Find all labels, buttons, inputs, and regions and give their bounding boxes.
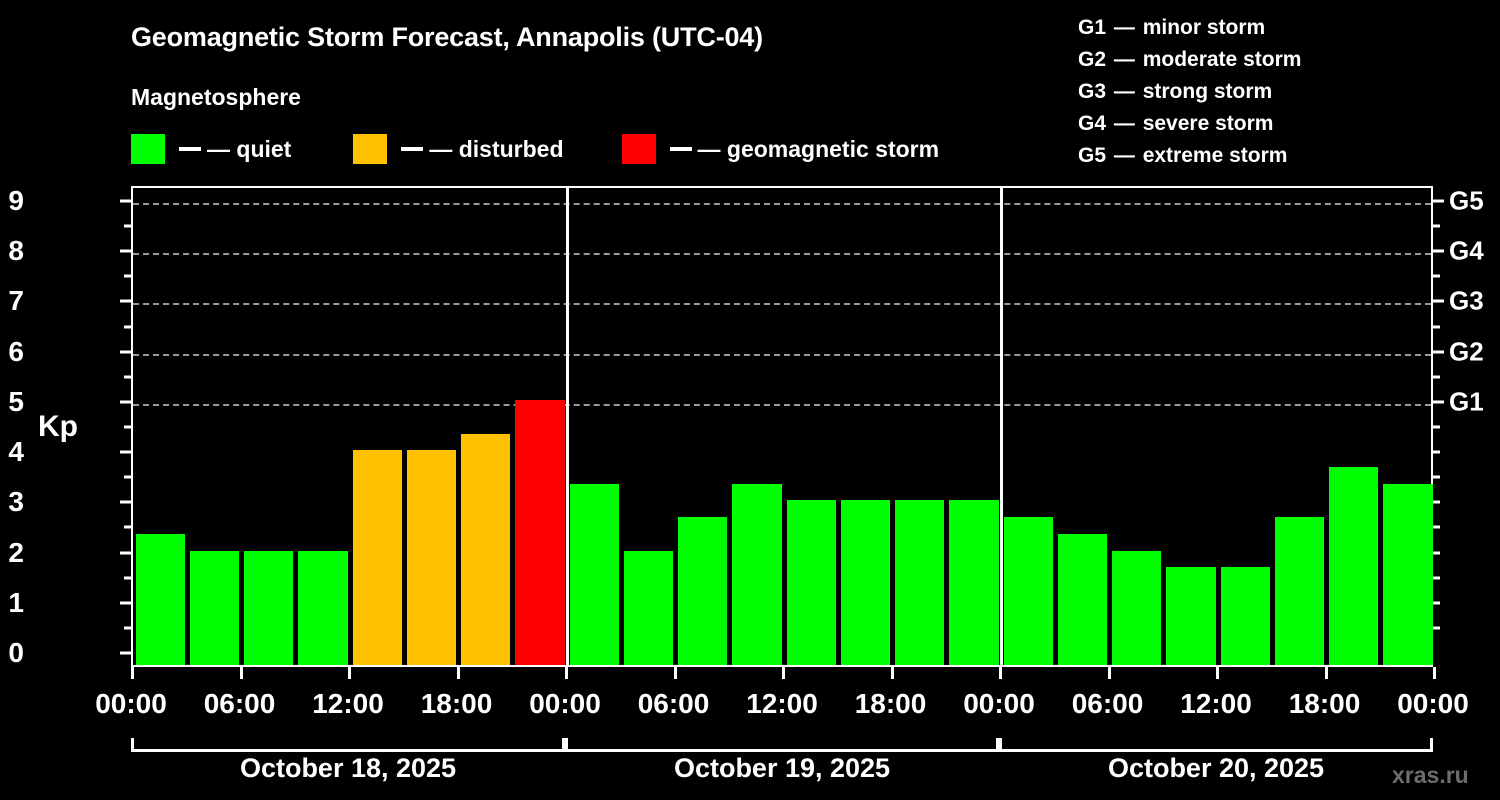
g-tick-minor <box>1433 275 1440 278</box>
day-bracket <box>999 738 1433 752</box>
geomagnetic-forecast-chart: Geomagnetic Storm Forecast, Annapolis (U… <box>0 0 1500 800</box>
x-tick-mark <box>240 667 243 679</box>
g-legend-row: G3 — strong storm <box>1078 76 1301 108</box>
x-tick-mark <box>782 667 785 679</box>
g-tick-minor <box>1433 576 1440 579</box>
plot-inner <box>133 188 1431 665</box>
g-legend-code: G5 <box>1078 140 1106 172</box>
kp-bar <box>1409 500 1432 665</box>
y-tick-minor <box>124 426 131 429</box>
x-tick-label: 00:00 <box>963 688 1035 720</box>
x-tick-mark <box>348 667 351 679</box>
y-tick-label-5: 5 <box>0 386 24 418</box>
y-tick-mark-9 <box>120 200 131 203</box>
x-tick-mark <box>674 667 677 679</box>
kp-bar <box>407 450 456 665</box>
legend-entry-disturbed: — disturbed <box>353 134 563 164</box>
g-tick-mark-G5 <box>1433 200 1444 203</box>
y-tick-mark-6 <box>120 350 131 353</box>
x-tick-label: 18:00 <box>1289 688 1361 720</box>
g-tick-minor <box>1433 476 1440 479</box>
kp-bar <box>678 517 727 665</box>
g-tick-mark-G1 <box>1433 400 1444 403</box>
legend-entry-quiet: — quiet <box>131 134 291 164</box>
kp-bar <box>1004 517 1053 665</box>
gridline-kp-6 <box>133 354 1431 356</box>
legend-label-disturbed: — disturbed <box>429 136 563 163</box>
y-tick-minor <box>124 626 131 629</box>
x-tick-label: 00:00 <box>95 688 167 720</box>
kp-bar <box>570 484 619 665</box>
page-title: Geomagnetic Storm Forecast, Annapolis (U… <box>131 22 763 53</box>
x-tick-label: 12:00 <box>746 688 818 720</box>
x-tick-label: 12:00 <box>1180 688 1252 720</box>
g-legend-desc: minor storm <box>1143 16 1266 39</box>
kp-bar <box>1166 567 1215 665</box>
kp-bar <box>1112 551 1161 665</box>
g-legend-code: G4 <box>1078 108 1106 140</box>
kp-bar <box>787 500 836 665</box>
legend-entry-storm: — geomagnetic storm <box>622 134 940 164</box>
y-tick-mark-8 <box>120 250 131 253</box>
g-tick-minor <box>1433 375 1440 378</box>
kp-bar <box>244 551 293 665</box>
disturbed-swatch <box>353 134 387 164</box>
legend-dash-icon <box>401 147 423 151</box>
y-tick-mark-5 <box>120 400 131 403</box>
x-tick-mark <box>1433 667 1436 679</box>
y-tick-mark-1 <box>120 601 131 604</box>
kp-bar <box>1329 467 1378 665</box>
day-label: October 19, 2025 <box>674 753 890 784</box>
g-legend-code: G1 <box>1078 12 1106 44</box>
y-tick-label-6: 6 <box>0 336 24 368</box>
g-tick-mark-G4 <box>1433 250 1444 253</box>
gridline-kp-9 <box>133 203 1431 205</box>
y-tick-mark-0 <box>120 652 131 655</box>
kp-bar <box>949 500 998 665</box>
y-tick-label-1: 1 <box>0 587 24 619</box>
g-tick-minor <box>1433 526 1440 529</box>
y-axis-label: Kp <box>38 410 78 444</box>
day-label: October 18, 2025 <box>240 753 456 784</box>
g-tick-minor <box>1433 451 1440 454</box>
x-tick-label: 00:00 <box>529 688 601 720</box>
y-tick-minor <box>124 275 131 278</box>
x-tick-mark <box>999 667 1002 679</box>
legend-dash-icon <box>179 147 201 151</box>
day-bracket <box>131 738 565 752</box>
g-legend-desc: strong storm <box>1143 80 1273 103</box>
kp-bar <box>136 534 185 665</box>
y-tick-minor <box>124 375 131 378</box>
y-tick-minor <box>124 225 131 228</box>
day-divider <box>1000 188 1003 665</box>
x-tick-label: 18:00 <box>855 688 927 720</box>
gridline-kp-5 <box>133 404 1431 406</box>
kp-bar <box>895 500 944 665</box>
kp-bar <box>298 551 347 665</box>
legend-label-storm: — geomagnetic storm <box>698 136 940 163</box>
storm-swatch <box>622 134 656 164</box>
y-tick-minor <box>124 526 131 529</box>
g-legend-row: G2 — moderate storm <box>1078 44 1301 76</box>
x-tick-mark <box>1108 667 1111 679</box>
g-tick-minor <box>1433 225 1440 228</box>
g-tick-minor <box>1433 325 1440 328</box>
g-legend-sep: — <box>1112 12 1137 44</box>
kp-bar <box>1275 517 1324 665</box>
day-label: October 20, 2025 <box>1108 753 1324 784</box>
x-tick-mark <box>1216 667 1219 679</box>
y-tick-mark-4 <box>120 451 131 454</box>
g-legend-desc: extreme storm <box>1143 144 1288 167</box>
g-tick-mark-G3 <box>1433 300 1444 303</box>
legend-dash-icon <box>670 147 692 151</box>
x-tick-label: 18:00 <box>421 688 493 720</box>
x-tick-mark <box>457 667 460 679</box>
g-legend-desc: severe storm <box>1143 112 1274 135</box>
x-tick-label: 06:00 <box>1072 688 1144 720</box>
y-tick-label-9: 9 <box>0 185 24 217</box>
g-tick-minor <box>1433 626 1440 629</box>
kp-bar <box>841 500 890 665</box>
kp-bar <box>624 551 673 665</box>
g-tick-mark-G2 <box>1433 350 1444 353</box>
g-legend-row: G5 — extreme storm <box>1078 140 1301 172</box>
g-tick-minor <box>1433 501 1440 504</box>
x-tick-mark <box>891 667 894 679</box>
g-legend-sep: — <box>1112 44 1137 76</box>
g-legend-desc: moderate storm <box>1143 48 1302 71</box>
plot-area <box>131 186 1433 667</box>
kp-bar <box>353 450 402 665</box>
g-tick-minor <box>1433 426 1440 429</box>
g-legend-row: G1 — minor storm <box>1078 12 1301 44</box>
kp-bar <box>1058 534 1107 665</box>
color-legend: — quiet — disturbed — geomagnetic storm <box>131 133 939 165</box>
y-tick-label-2: 2 <box>0 537 24 569</box>
kp-bar <box>1221 567 1270 665</box>
g-legend-sep: — <box>1112 140 1137 172</box>
g-legend-code: G2 <box>1078 44 1106 76</box>
quiet-swatch <box>131 134 165 164</box>
y-tick-minor <box>124 476 131 479</box>
kp-bar <box>732 484 781 665</box>
g-legend-sep: — <box>1112 76 1137 108</box>
y-tick-mark-2 <box>120 551 131 554</box>
y-tick-minor <box>124 325 131 328</box>
g-tick-minor <box>1433 551 1440 554</box>
y-tick-minor <box>124 576 131 579</box>
g-scale-legend: G1 — minor storm G2 — moderate storm G3 … <box>1078 12 1301 172</box>
x-tick-mark <box>131 667 134 679</box>
x-tick-label: 12:00 <box>312 688 384 720</box>
g-tick-label-G2: G2 <box>1449 336 1484 367</box>
y-tick-label-3: 3 <box>0 486 24 518</box>
day-divider <box>566 188 569 665</box>
kp-bar <box>190 551 239 665</box>
y-tick-label-7: 7 <box>0 285 24 317</box>
x-tick-mark <box>1325 667 1328 679</box>
gridline-kp-8 <box>133 253 1431 255</box>
g-tick-label-G5: G5 <box>1449 186 1484 217</box>
g-tick-label-G4: G4 <box>1449 236 1484 267</box>
g-tick-label-G3: G3 <box>1449 286 1484 317</box>
x-tick-label: 00:00 <box>1397 688 1469 720</box>
watermark: xras.ru <box>1392 762 1469 789</box>
y-tick-label-8: 8 <box>0 235 24 267</box>
legend-label-quiet: — quiet <box>207 136 291 163</box>
kp-bar <box>515 400 564 665</box>
x-tick-label: 06:00 <box>204 688 276 720</box>
g-legend-row: G4 — severe storm <box>1078 108 1301 140</box>
y-tick-label-4: 4 <box>0 436 24 468</box>
g-tick-label-G1: G1 <box>1449 386 1484 417</box>
kp-bar <box>461 434 510 665</box>
g-legend-sep: — <box>1112 108 1137 140</box>
day-bracket <box>565 738 999 752</box>
x-tick-label: 06:00 <box>638 688 710 720</box>
g-legend-code: G3 <box>1078 76 1106 108</box>
y-tick-mark-7 <box>120 300 131 303</box>
chart-subtitle: Magnetosphere <box>131 84 301 111</box>
y-tick-label-0: 0 <box>0 637 24 669</box>
g-tick-minor <box>1433 601 1440 604</box>
gridline-kp-7 <box>133 303 1431 305</box>
y-tick-mark-3 <box>120 501 131 504</box>
x-tick-mark <box>565 667 568 679</box>
